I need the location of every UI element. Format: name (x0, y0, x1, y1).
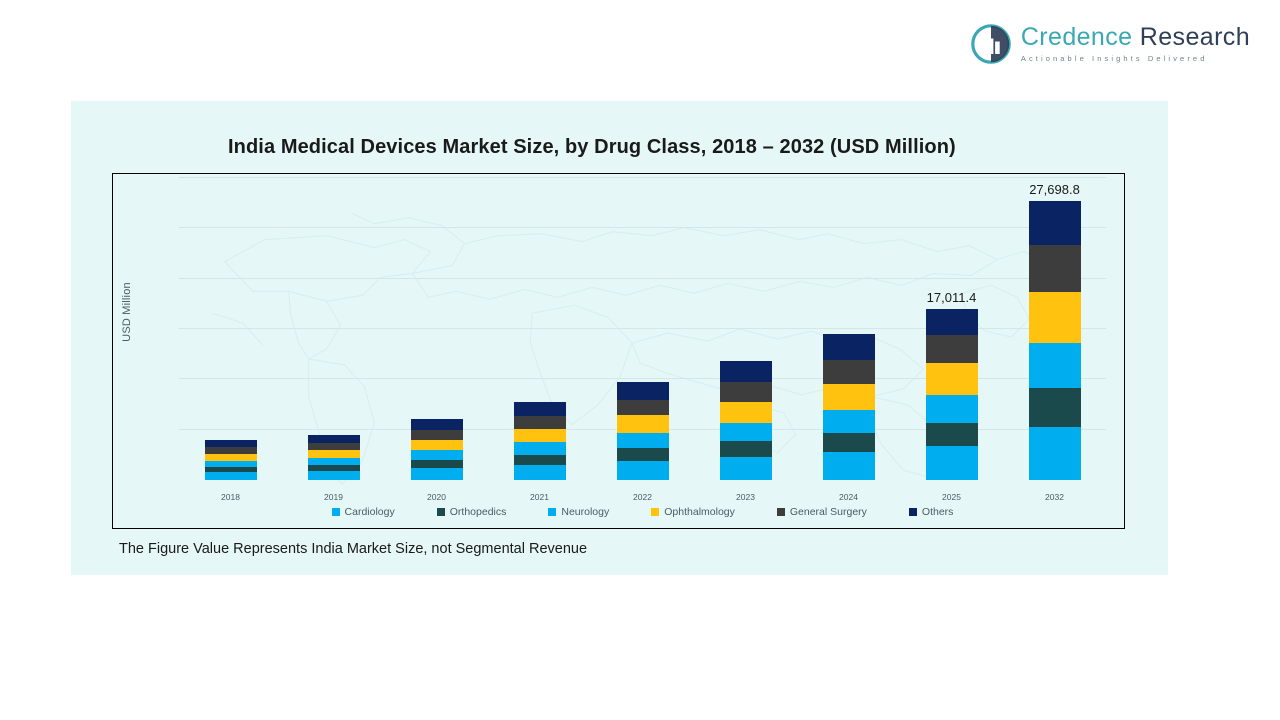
bar-segment-orthopedics[interactable] (411, 460, 463, 468)
bar-segment-others[interactable] (205, 440, 257, 447)
legend-swatch-icon (437, 508, 445, 516)
stacked-bar[interactable] (720, 361, 772, 480)
screenshot-root: Credence Research Actionable Insights De… (0, 0, 1280, 720)
bar-column[interactable]: 2022 (614, 178, 672, 480)
bar-column[interactable]: 2024 (820, 178, 878, 480)
stacked-bar[interactable] (926, 309, 978, 480)
bar-segment-neurology[interactable] (411, 450, 463, 460)
bar-column[interactable]: 2019 (305, 178, 363, 480)
bar-segment-neurology[interactable] (617, 433, 669, 448)
bar-segment-others[interactable] (720, 361, 772, 382)
bar-column[interactable]: 17,011.42025 (923, 178, 981, 480)
bar-segment-ophthalmology[interactable] (720, 402, 772, 423)
legend-label: Neurology (561, 506, 609, 518)
bar-segment-cardiology[interactable] (926, 446, 978, 480)
legend-label: Cardiology (345, 506, 395, 518)
bar-segment-cardiology[interactable] (823, 452, 875, 480)
bar-segment-others[interactable] (308, 435, 360, 443)
bar-value-label: 27,698.8 (1029, 182, 1080, 197)
stacked-bar[interactable] (514, 402, 566, 480)
bar-segment-orthopedics[interactable] (926, 423, 978, 446)
bar-segment-others[interactable] (411, 419, 463, 430)
legend-item-ophthalmology[interactable]: Ophthalmology (651, 506, 735, 518)
chart-legend: CardiologyOrthopedicsNeurologyOphthalmol… (179, 506, 1106, 518)
bar-segment-general-surgery[interactable] (514, 416, 566, 429)
bar-column[interactable]: 2020 (408, 178, 466, 480)
brand-name: Credence Research (1021, 25, 1250, 50)
legend-swatch-icon (909, 508, 917, 516)
legend-swatch-icon (548, 508, 556, 516)
bar-segment-neurology[interactable] (308, 458, 360, 465)
stacked-bar[interactable] (308, 435, 360, 480)
stacked-bar[interactable] (205, 440, 257, 480)
bar-segment-cardiology[interactable] (205, 472, 257, 480)
y-axis-label: USD Million (121, 242, 133, 382)
bar-column[interactable]: 2018 (202, 178, 260, 480)
bar-value-label: 17,011.4 (927, 290, 977, 305)
chart-panel: India Medical Devices Market Size, by Dr… (71, 101, 1168, 575)
bar-segment-others[interactable] (1029, 201, 1081, 245)
bar-segment-ophthalmology[interactable] (308, 450, 360, 458)
bar-segment-cardiology[interactable] (617, 461, 669, 480)
stacked-bar[interactable] (617, 382, 669, 480)
legend-swatch-icon (332, 508, 340, 516)
bar-segment-orthopedics[interactable] (514, 455, 566, 465)
bar-segment-cardiology[interactable] (720, 457, 772, 480)
stacked-bar[interactable] (411, 419, 463, 480)
legend-item-others[interactable]: Others (909, 506, 954, 518)
bar-segment-ophthalmology[interactable] (617, 415, 669, 432)
legend-swatch-icon (651, 508, 659, 516)
brand-name-primary: Credence (1021, 23, 1133, 51)
x-axis-tick-label: 2019 (324, 492, 343, 502)
plot-area: USD Million 2018201920202021202220232024… (112, 173, 1125, 529)
bar-segment-general-surgery[interactable] (720, 382, 772, 401)
bar-segment-orthopedics[interactable] (1029, 388, 1081, 426)
brand-tagline: Actionable Insights Delivered (1021, 55, 1250, 63)
bar-segment-general-surgery[interactable] (823, 360, 875, 384)
bar-segment-general-surgery[interactable] (617, 400, 669, 416)
x-axis-tick-label: 2022 (633, 492, 652, 502)
bar-segment-ophthalmology[interactable] (514, 429, 566, 443)
bar-segment-ophthalmology[interactable] (205, 454, 257, 461)
legend-item-orthopedics[interactable]: Orthopedics (437, 506, 507, 518)
bar-segment-cardiology[interactable] (1029, 427, 1081, 480)
legend-item-general-surgery[interactable]: General Surgery (777, 506, 867, 518)
bar-segment-neurology[interactable] (720, 423, 772, 442)
bar-segment-general-surgery[interactable] (926, 335, 978, 364)
legend-item-neurology[interactable]: Neurology (548, 506, 609, 518)
bar-segment-cardiology[interactable] (514, 465, 566, 480)
brand-name-secondary: Research (1132, 23, 1250, 51)
bar-column[interactable]: 2021 (511, 178, 569, 480)
legend-label: Ophthalmology (664, 506, 735, 518)
bar-segment-others[interactable] (926, 309, 978, 335)
stacked-bar[interactable] (1029, 201, 1081, 480)
bars-group: 201820192020202120222023202417,011.42025… (179, 178, 1106, 480)
bar-segment-general-surgery[interactable] (1029, 245, 1081, 292)
bar-segment-neurology[interactable] (926, 395, 978, 423)
x-axis-tick-label: 2021 (530, 492, 549, 502)
bar-column[interactable]: 2023 (717, 178, 775, 480)
bar-segment-others[interactable] (617, 382, 669, 400)
bar-segment-cardiology[interactable] (308, 471, 360, 480)
stacked-bar[interactable] (823, 334, 875, 480)
x-axis-tick-label: 2018 (221, 492, 240, 502)
legend-item-cardiology[interactable]: Cardiology (332, 506, 395, 518)
x-axis-tick-label: 2020 (427, 492, 446, 502)
bar-segment-ophthalmology[interactable] (1029, 292, 1081, 343)
bar-segment-ophthalmology[interactable] (411, 440, 463, 451)
x-axis-tick-label: 2024 (839, 492, 858, 502)
bar-segment-general-surgery[interactable] (411, 430, 463, 440)
legend-swatch-icon (777, 508, 785, 516)
x-axis-tick-label: 2023 (736, 492, 755, 502)
bar-segment-orthopedics[interactable] (823, 433, 875, 452)
bar-segment-others[interactable] (823, 334, 875, 360)
bar-chart-circle-icon (971, 24, 1011, 64)
chart-footnote: The Figure Value Represents India Market… (119, 541, 587, 557)
chart-title: India Medical Devices Market Size, by Dr… (228, 136, 1128, 159)
bar-column[interactable]: 27,698.82032 (1026, 178, 1084, 480)
bar-segment-neurology[interactable] (1029, 343, 1081, 388)
x-axis-tick-label: 2032 (1045, 492, 1064, 502)
bar-segment-cardiology[interactable] (411, 468, 463, 480)
bar-segment-neurology[interactable] (514, 442, 566, 454)
bar-segment-neurology[interactable] (823, 410, 875, 433)
bar-segment-ophthalmology[interactable] (926, 363, 978, 394)
legend-label: Others (922, 506, 954, 518)
bar-segment-orthopedics[interactable] (617, 448, 669, 461)
bar-segment-others[interactable] (514, 402, 566, 416)
legend-label: Orthopedics (450, 506, 507, 518)
bar-segment-ophthalmology[interactable] (823, 384, 875, 410)
legend-label: General Surgery (790, 506, 867, 518)
brand-logo: Credence Research Actionable Insights De… (971, 24, 1250, 64)
bar-segment-general-surgery[interactable] (308, 443, 360, 450)
x-axis-tick-label: 2025 (942, 492, 961, 502)
bar-segment-orthopedics[interactable] (720, 441, 772, 457)
